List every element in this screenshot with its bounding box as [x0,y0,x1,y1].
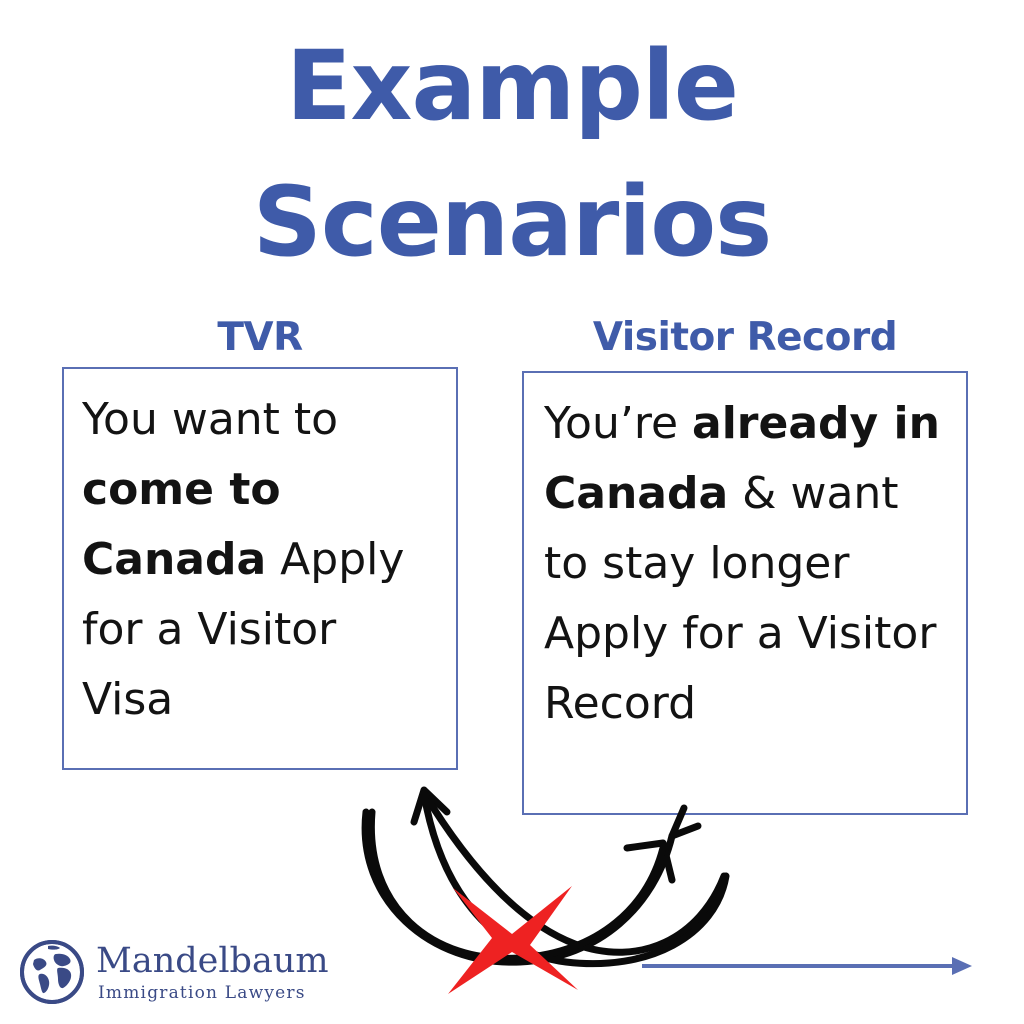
logo-tagline: Immigration Lawyers [96,979,329,1002]
scenario-tvr-text-emphasis: come to Canada [82,464,281,585]
page-title-line-1: Example [0,18,1024,154]
blue-right-arrow [642,957,972,975]
logo-name: Mandelbaum [96,944,329,979]
scenario-box-visitor-record: You’re already in Canada & want to stay … [522,371,968,815]
curved-arrow-right-body [372,814,661,942]
curved-arrow-left [365,808,698,962]
scenario-vr-text-part-1: You’re [544,398,692,449]
scenario-box-tvr: You want to come to Canada Apply for a V… [62,367,458,770]
curved-arrow-right [368,812,672,952]
logo-text: Mandelbaum Immigration Lawyers [96,942,329,1002]
scenario-tvr-text-part-1: You want to [82,394,338,445]
page-title: Example Scenarios [0,18,1024,291]
page-title-line-2: Scenarios [0,154,1024,290]
infographic-canvas: Example Scenarios TVR Visitor Record You… [0,0,1024,1024]
red-x-mark [448,886,578,994]
curved-arrows [371,794,726,964]
column-header-visitor-record: Visitor Record [522,315,968,360]
column-header-tvr: TVR [62,315,458,360]
brand-logo: Mandelbaum Immigration Lawyers [18,938,329,1006]
globe-icon [18,938,86,1006]
